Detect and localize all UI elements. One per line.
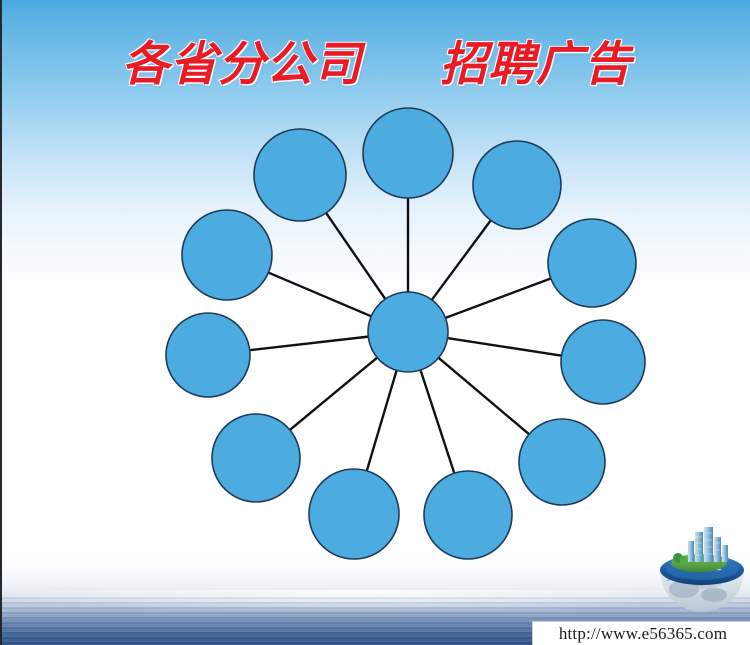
branch-node-8[interactable] <box>212 414 300 502</box>
globe-city-logo <box>654 523 750 619</box>
branch-node-2[interactable] <box>473 141 561 229</box>
diagram-nodes <box>166 108 645 559</box>
spoke-line-3 <box>445 278 552 318</box>
spoke-line-5 <box>438 357 530 435</box>
hub-node[interactable] <box>368 292 448 372</box>
radial-hub-diagram <box>2 0 750 645</box>
watermark-url: http://www.e56365.com <box>559 624 727 644</box>
building-icon <box>695 532 703 562</box>
spoke-line-11 <box>326 212 386 300</box>
branch-node-11[interactable] <box>254 129 346 221</box>
branch-node-9[interactable] <box>166 313 250 397</box>
building-icon <box>714 537 721 562</box>
spoke-line-6 <box>420 369 454 474</box>
slide-canvas: 各省分公司 招聘广告 <box>0 0 750 645</box>
branch-node-4[interactable] <box>561 320 645 404</box>
spoke-line-10 <box>268 272 373 317</box>
spoke-line-9 <box>249 337 370 351</box>
spoke-line-4 <box>447 338 563 356</box>
watermark-bar: http://www.e56365.com <box>532 621 750 645</box>
branch-node-6[interactable] <box>424 471 512 559</box>
spoke-line-8 <box>289 357 378 431</box>
branch-node-10[interactable] <box>182 210 272 300</box>
branch-node-5[interactable] <box>519 419 605 505</box>
spoke-line-7 <box>367 369 397 471</box>
spoke-line-2 <box>431 220 491 301</box>
building-icon <box>704 527 713 562</box>
branch-node-7[interactable] <box>309 469 399 559</box>
building-icon <box>722 545 728 562</box>
tree-icon <box>680 556 688 564</box>
branch-node-3[interactable] <box>548 219 636 307</box>
building-icon <box>688 541 694 562</box>
branch-node-1[interactable] <box>363 108 453 198</box>
